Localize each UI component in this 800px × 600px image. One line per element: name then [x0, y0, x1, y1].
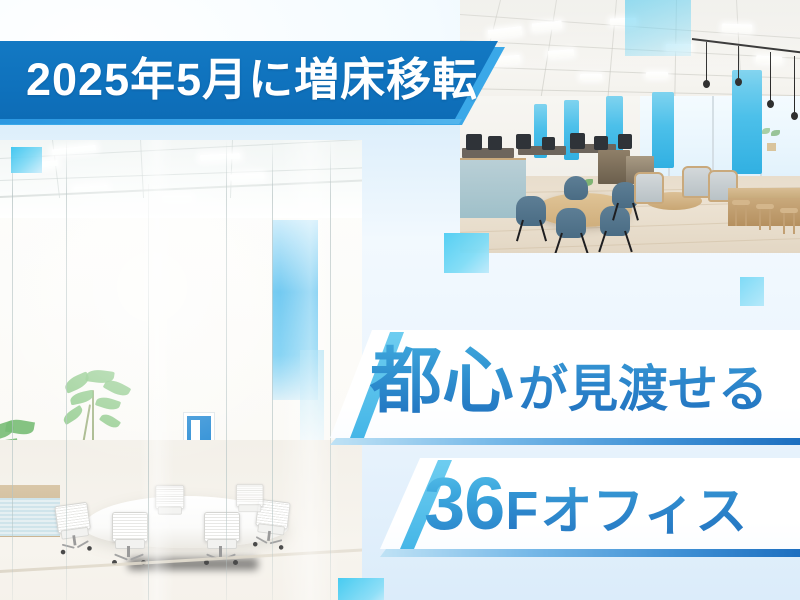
bar-stool	[756, 204, 774, 230]
ceiling-light	[756, 55, 782, 63]
pendant-cord	[706, 42, 707, 82]
accent-square	[338, 578, 384, 600]
ceiling-light	[162, 196, 192, 201]
counter-plant	[760, 128, 782, 152]
ceiling-light	[230, 173, 264, 180]
pendant-bulb	[703, 80, 710, 88]
exterior-window	[300, 350, 324, 440]
headline-rest-text: が見渡せる	[518, 345, 768, 433]
office-chair	[488, 136, 502, 150]
floor-number-text: 36	[424, 460, 504, 548]
meeting-chair	[236, 484, 262, 522]
accent-square	[625, 0, 691, 56]
glass-partition-corner	[148, 184, 149, 600]
ceiling-light	[580, 74, 602, 80]
lounge-chair	[564, 176, 588, 200]
accent-square	[11, 147, 42, 173]
pendant-cord	[794, 56, 795, 114]
banner-underline	[0, 119, 462, 124]
ceiling-light	[646, 72, 668, 78]
blue-pillar	[652, 92, 674, 168]
meeting-room-photo	[0, 140, 362, 600]
headline-emphasis-text: 都心	[370, 338, 514, 426]
bar-stool	[732, 200, 750, 226]
pendant-bulb	[767, 100, 774, 108]
meeting-chair	[112, 512, 146, 562]
bar-stool	[780, 208, 798, 234]
glass-pane-edge	[226, 140, 227, 600]
panel-bottom-bar	[330, 438, 800, 445]
lounge-chair	[516, 196, 546, 226]
pendant-bulb	[791, 112, 798, 120]
headline-line-1: 都心 が見渡せる	[370, 338, 768, 433]
glass-pane-edge	[66, 140, 67, 600]
headline-line-2: 36 F オフィス	[424, 460, 747, 556]
accent-square	[740, 277, 764, 306]
announcement-banner: 2025年5月に増床移転	[0, 41, 520, 125]
banner-text: 2025年5月に増床移転	[26, 50, 478, 110]
office-chair	[516, 134, 531, 149]
accent-square	[444, 233, 489, 273]
office-chair	[466, 134, 482, 150]
pendant-cord	[738, 46, 739, 80]
armchair	[634, 172, 664, 204]
office-kana-text: オフィス	[540, 468, 747, 556]
reception-counter-front	[0, 498, 60, 536]
headline-panel-secondary: 36 F オフィス	[380, 458, 800, 556]
promo-banner-canvas: 2025年5月に増床移転 都心 が見渡せる 36 F オフィス	[0, 0, 800, 600]
glass-pane-edge	[12, 140, 13, 600]
pendant-bulb	[735, 78, 742, 86]
ceiling-light	[722, 23, 752, 32]
office-chair	[618, 134, 632, 149]
meeting-chair	[204, 512, 238, 562]
headline-panel-primary: 都心 が見渡せる	[330, 330, 800, 446]
pendant-cord	[770, 52, 771, 102]
glass-pane-edge	[272, 140, 273, 600]
meeting-chair	[155, 485, 182, 525]
office-chair	[542, 137, 555, 150]
lounge-chair	[556, 208, 586, 238]
floor-unit-text: F	[505, 467, 538, 555]
office-chair	[570, 133, 585, 149]
meeting-chair	[54, 502, 91, 552]
office-chair	[594, 136, 608, 150]
